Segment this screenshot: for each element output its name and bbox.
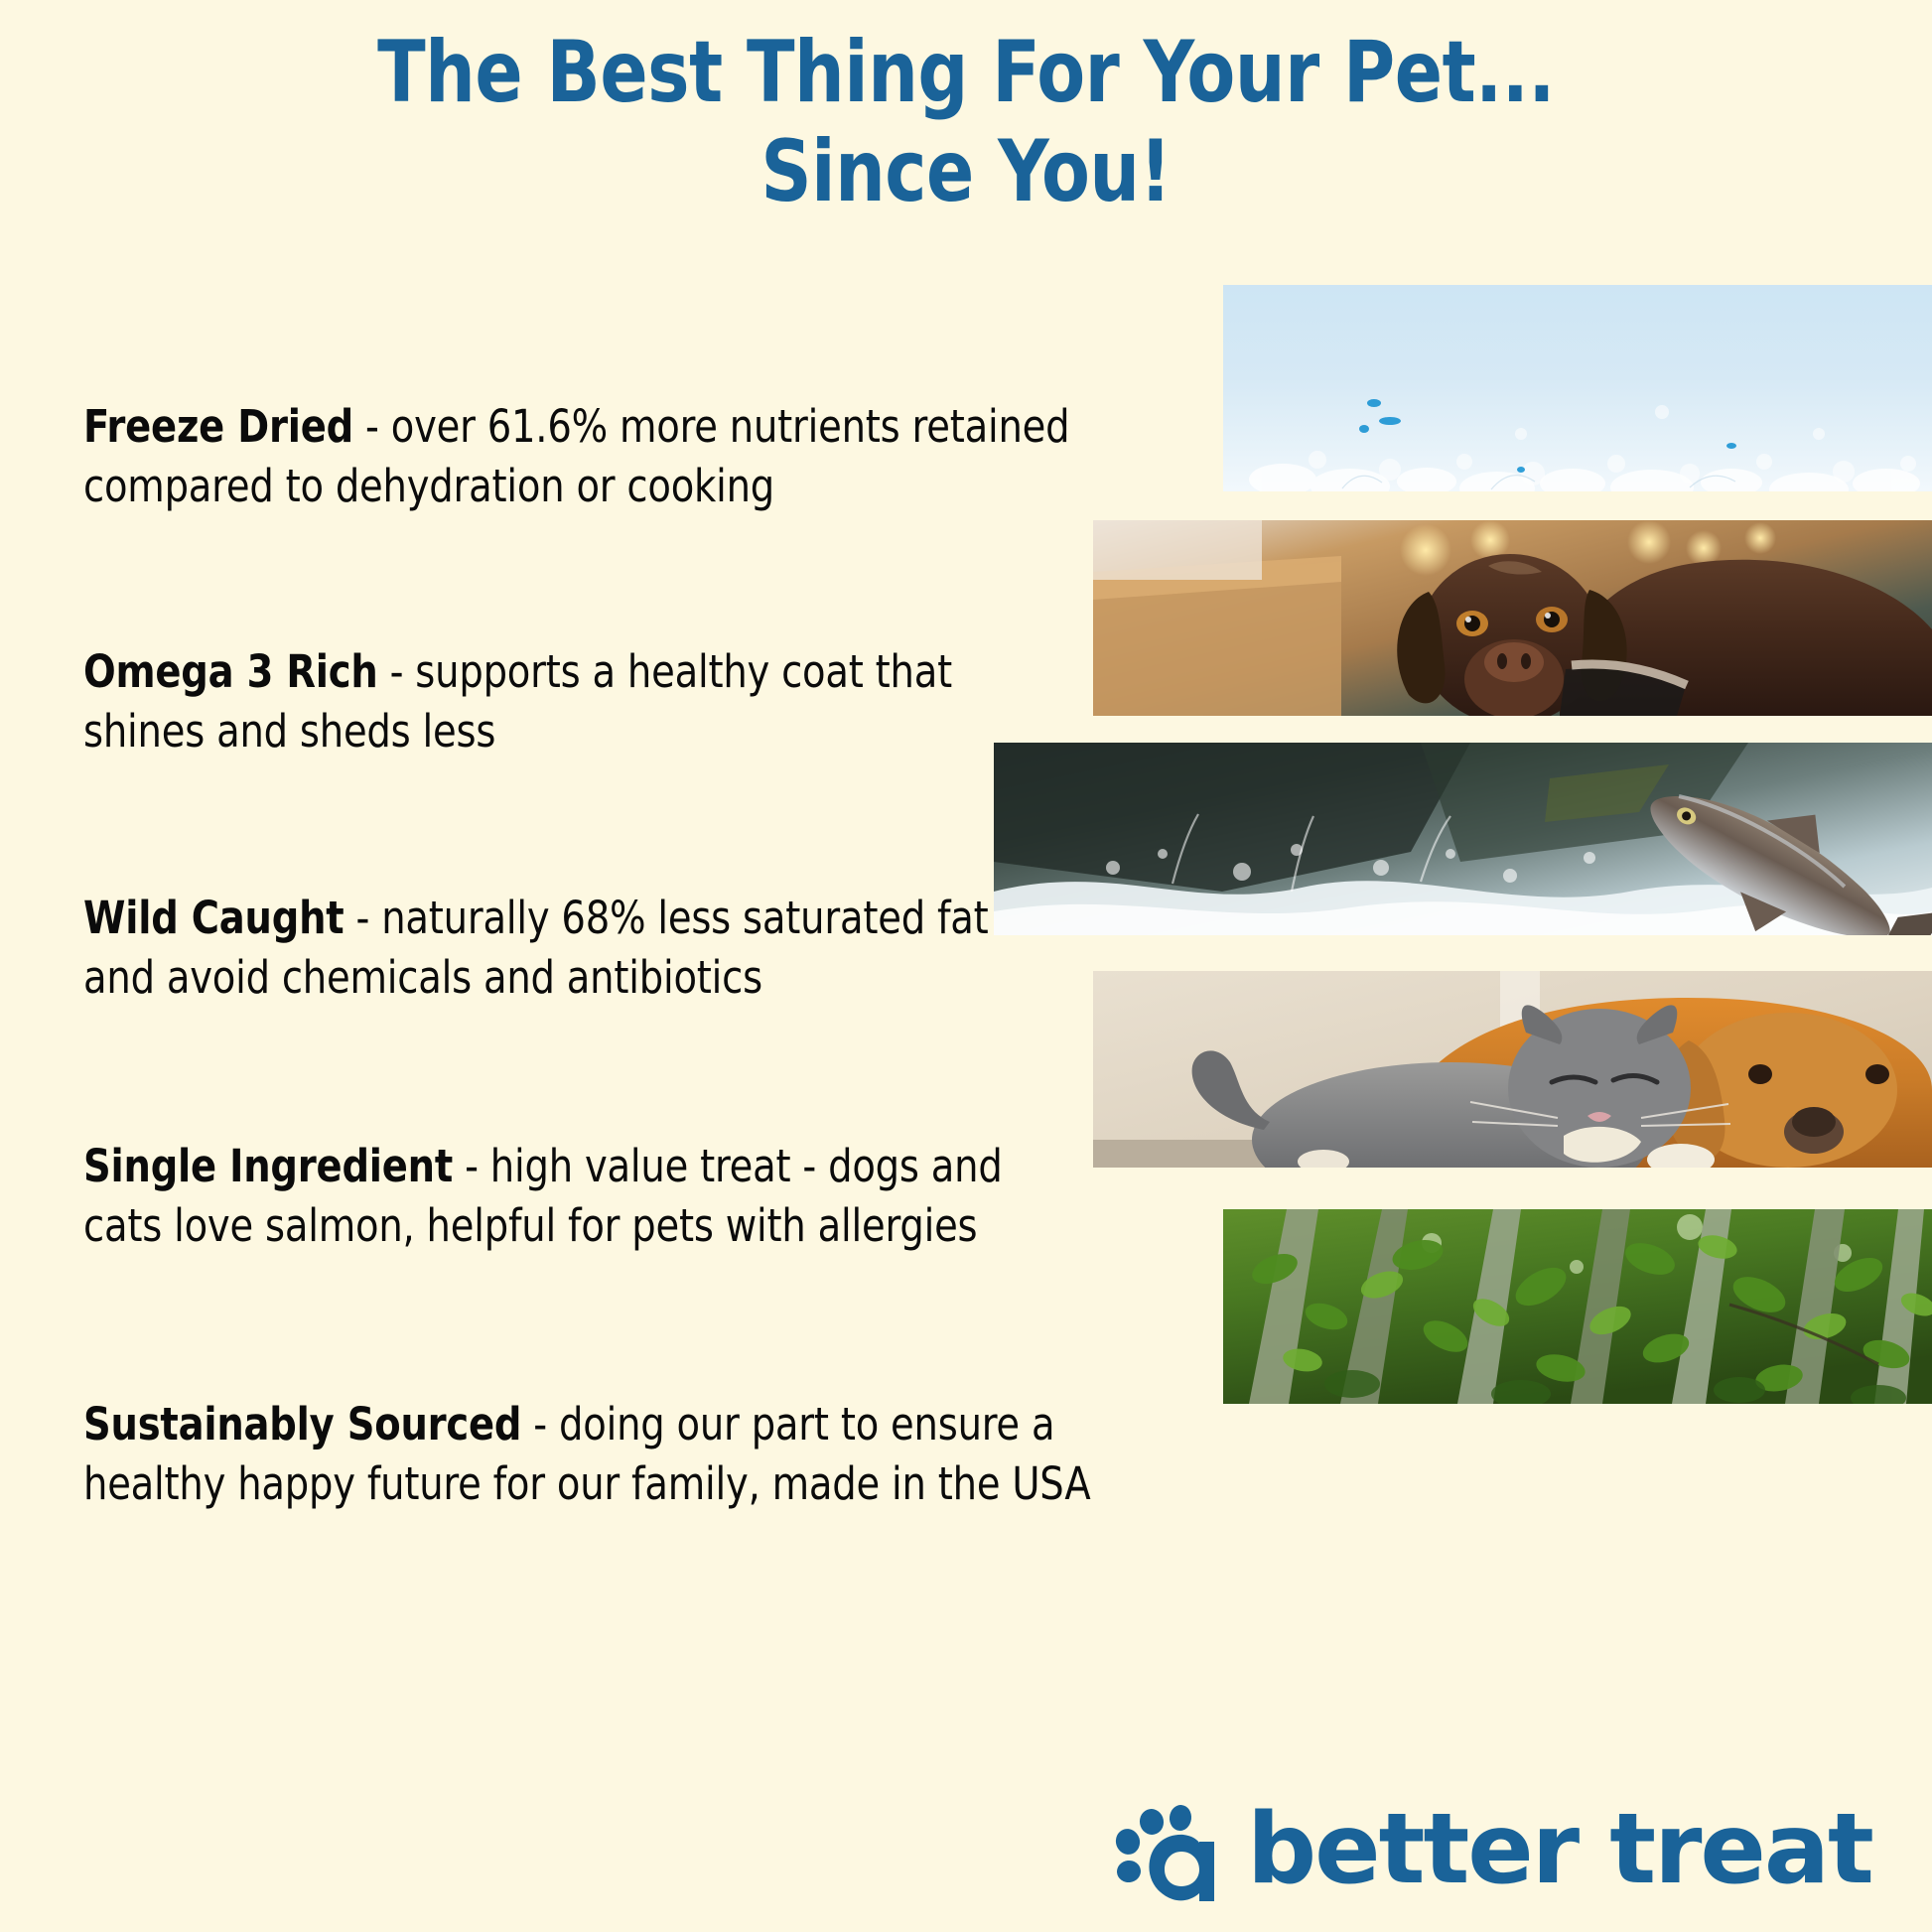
cat-and-dog-photo — [1093, 971, 1932, 1168]
benefit-item-sustainably-sourced: Sustainably Sourced - doing our part to … — [83, 1395, 1187, 1515]
paw-a-mark — [1112, 1798, 1229, 1901]
dog-illustration — [1093, 520, 1932, 716]
benefit-item-omega-3-rich: Omega 3 Rich - supports a healthy coat t… — [83, 642, 1027, 762]
forest-illustration — [1223, 1209, 1932, 1404]
logo-wordmark: better treat — [1247, 1801, 1872, 1898]
title-line-2: Since You! — [77, 123, 1855, 222]
ice-crystals-texture — [1223, 285, 1932, 491]
page-title: The Best Thing For Your Pet... Since You… — [77, 24, 1855, 222]
benefit-item-single-ingredient: Single Ingredient - high value treat - d… — [83, 1137, 1083, 1257]
salmon-illustration — [994, 743, 1932, 935]
benefit-lead: Wild Caught — [83, 892, 344, 944]
chocolate-labrador-photo — [1093, 520, 1932, 716]
benefit-lead: Single Ingredient — [83, 1140, 453, 1192]
brand-logo[interactable]: better treat — [1112, 1795, 1906, 1904]
benefit-lead: Sustainably Sourced — [83, 1398, 521, 1450]
benefit-item-freeze-dried: Freeze Dried - over 61.6% more nutrients… — [83, 397, 1140, 517]
paw-print-icon — [1112, 1798, 1229, 1901]
benefit-lead: Freeze Dried — [83, 400, 353, 453]
title-line-1: The Best Thing For Your Pet... — [77, 24, 1855, 123]
infographic-canvas: The Best Thing For Your Pet... Since You… — [0, 0, 1932, 1932]
leaping-salmon-photo — [994, 743, 1932, 935]
benefit-item-wild-caught: Wild Caught - naturally 68% less saturat… — [83, 889, 1018, 1009]
ice-crystals-photo — [1223, 285, 1932, 491]
green-forest-photo — [1223, 1209, 1932, 1404]
benefit-lead: Omega 3 Rich — [83, 645, 378, 698]
cat-and-dog-illustration — [1093, 971, 1932, 1168]
